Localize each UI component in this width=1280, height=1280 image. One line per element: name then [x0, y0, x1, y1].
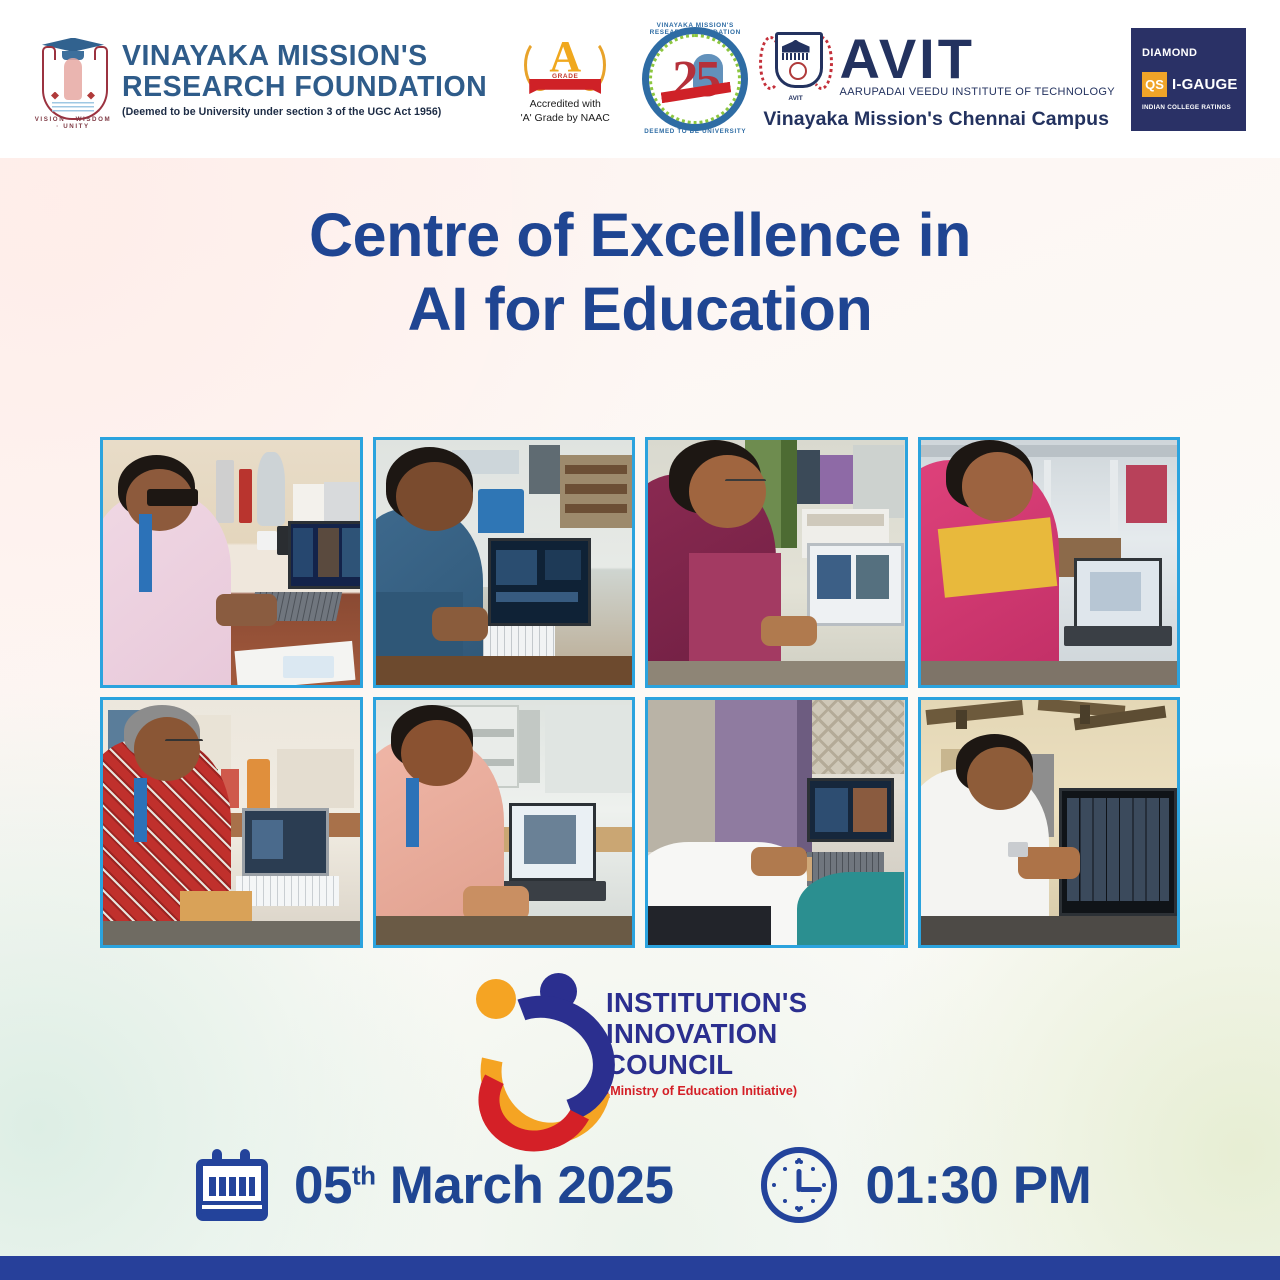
iic-line-3: COUNCIL	[606, 1049, 807, 1080]
avit-logo-group: AVIT AVIT AARUPADAI VEEDU INSTITUTE OF T…	[758, 28, 1246, 131]
gallery-photo-3	[645, 437, 908, 688]
iic-logo-block: INSTITUTION'S INNOVATION COUNCIL (Minist…	[468, 968, 813, 1116]
vmrf-line2: RESEARCH FOUNDATION	[122, 72, 487, 103]
header-logo-bar: VISION · WISDOM · UNITY VINAYAKA MISSION…	[0, 0, 1280, 158]
qs-tagline: INDIAN COLLEGE RATINGS	[1142, 104, 1246, 111]
bottom-accent-bar	[0, 1256, 1280, 1280]
photo-gallery-grid	[100, 437, 1180, 948]
gallery-photo-6	[373, 697, 636, 948]
vmrf-subtitle: (Deemed to be University under section 3…	[122, 106, 487, 118]
anniversary-top-text: VINAYAKA MISSION'S RESEARCH FOUNDATION	[635, 22, 755, 36]
avit-campus-line: Vinayaka Mission's Chennai Campus	[763, 108, 1109, 131]
vmrf-wordmark: VINAYAKA MISSION'S RESEARCH FOUNDATION (…	[122, 41, 487, 118]
naac-grade-word: GRADE	[517, 73, 613, 80]
avit-shield-name: AVIT	[758, 95, 834, 102]
qs-name-label: I-GAUGE	[1172, 76, 1238, 93]
avit-logo: AVIT AVIT AARUPADAI VEEDU INSTITUTE OF T…	[758, 28, 1115, 131]
naac-caption-line1: Accredited with	[517, 97, 613, 111]
vmrf-crest-icon: VISION · WISDOM · UNITY	[34, 32, 112, 127]
event-date-ordinal: th	[352, 1160, 376, 1190]
naac-caption-line2: 'A' Grade by NAAC	[517, 111, 613, 125]
title-line-2: AI for Education	[0, 272, 1280, 346]
gallery-photo-4	[918, 437, 1181, 688]
avit-wordmark: AVIT	[840, 33, 1115, 85]
iic-line-1: INSTITUTION'S	[606, 987, 807, 1018]
gallery-photo-1	[100, 437, 363, 688]
anniversary-number: 25	[635, 20, 755, 138]
anniversary-25-logo: 25 VINAYAKA MISSION'S RESEARCH FOUNDATIO…	[635, 20, 755, 138]
qs-mark-icon: QS	[1142, 72, 1167, 97]
qs-igauge-badge: DIAMOND QS I-GAUGE INDIAN COLLEGE RATING…	[1131, 28, 1246, 131]
event-date-rest: March 2025	[376, 1156, 674, 1215]
avit-shield-icon: AVIT	[758, 28, 834, 104]
gallery-photo-5	[100, 697, 363, 948]
event-datetime-bar: 05th March 2025 01:30 PM	[0, 1126, 1280, 1244]
anniversary-bottom-text: DEEMED TO BE UNIVERSITY	[635, 128, 755, 135]
page-title: Centre of Excellence in AI for Education	[0, 198, 1280, 346]
naac-accreditation-badge: A GRADE Accredited with 'A' Grade by NAA…	[517, 33, 613, 125]
iic-line-2: INNOVATION	[606, 1018, 807, 1049]
gallery-photo-2	[373, 437, 636, 688]
clock-icon	[761, 1147, 837, 1223]
event-date-day: 05	[294, 1156, 352, 1215]
title-line-1: Centre of Excellence in	[0, 198, 1280, 272]
poster-canvas: VISION · WISDOM · UNITY VINAYAKA MISSION…	[0, 0, 1280, 1280]
event-time: 01:30 PM	[865, 1155, 1091, 1216]
iic-emblem-icon	[468, 971, 596, 1113]
crest-motto: VISION · WISDOM · UNITY	[34, 116, 112, 130]
vmrf-line1: VINAYAKA MISSION'S	[122, 41, 487, 72]
qs-tier-label: DIAMOND	[1142, 47, 1246, 59]
avit-expansion: AARUPADAI VEEDU INSTITUTE OF TECHNOLOGY	[840, 86, 1115, 98]
gallery-photo-8	[918, 697, 1181, 948]
calendar-icon	[196, 1149, 268, 1221]
gallery-photo-7	[645, 697, 908, 948]
iic-subtitle: (Ministry of Education Initiative)	[606, 1084, 807, 1098]
naac-grade-icon: A GRADE	[517, 33, 613, 97]
vmrf-logo-group: VISION · WISDOM · UNITY VINAYAKA MISSION…	[34, 32, 487, 127]
event-date: 05th March 2025	[294, 1155, 673, 1216]
